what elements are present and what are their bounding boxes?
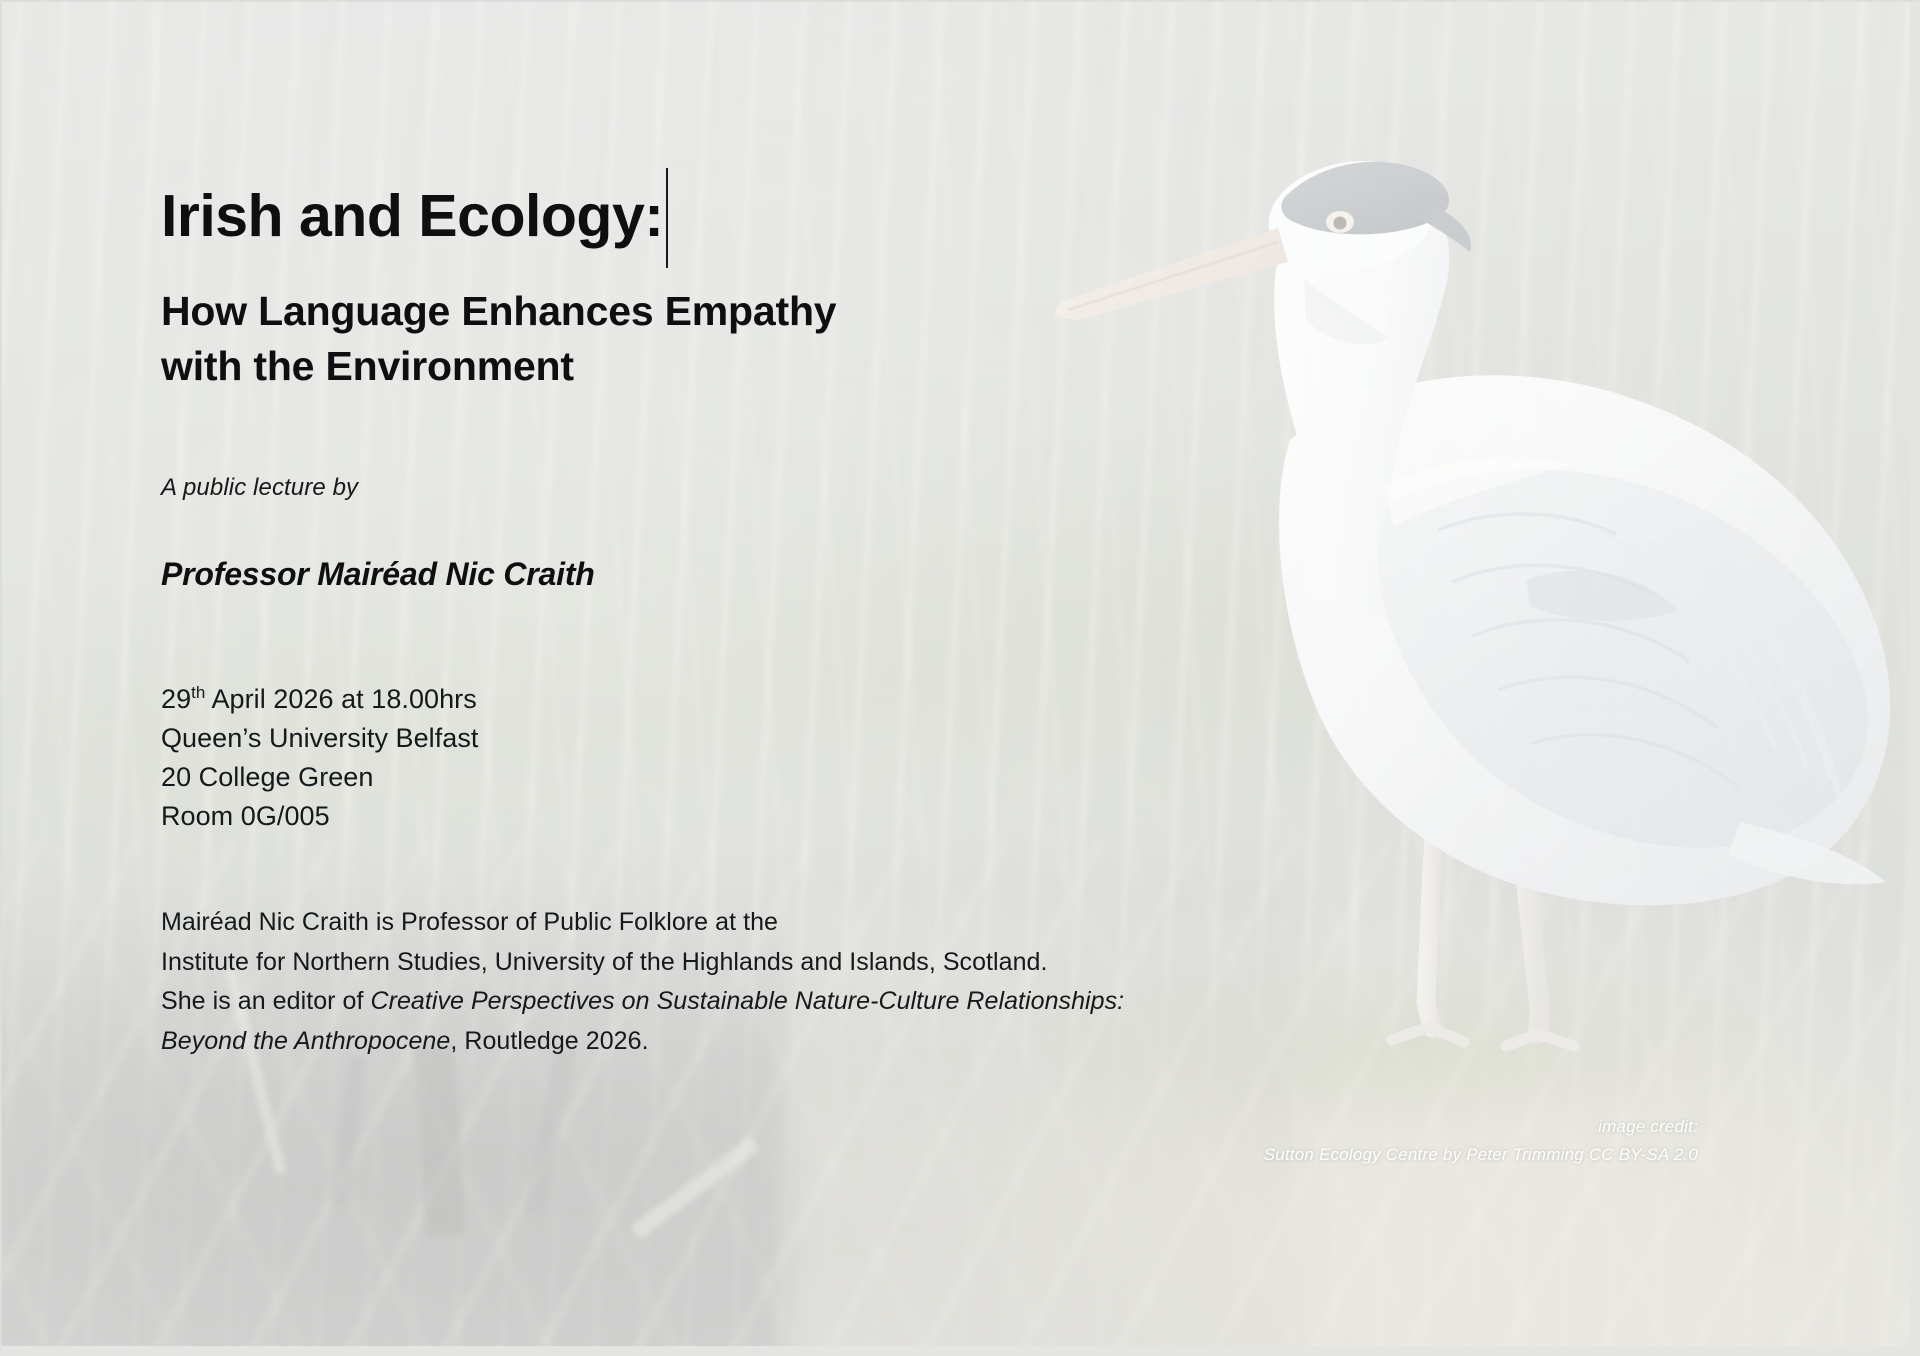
event-date-day: 29	[161, 684, 191, 714]
presenter-name: Professor Mairéad Nic Craith	[161, 556, 595, 593]
book-title-part-1: Creative Perspectives on Sustainable Nat…	[370, 987, 1124, 1015]
speaker-bio: Mairéad Nic Craith is Professor of Publi…	[161, 903, 1124, 1061]
page-title: Irish and Ecology:	[161, 168, 836, 268]
bio-line-3-prefix: She is an editor of	[161, 987, 370, 1015]
bio-publisher: , Routledge 2026.	[450, 1027, 648, 1055]
title-main-text: Irish and Ecology:	[161, 183, 663, 249]
event-room: Room 0G/005	[161, 797, 478, 836]
event-date-rest: April 2026 at 18.00hrs	[205, 684, 476, 714]
image-credit-label: image credit:	[1264, 1113, 1698, 1141]
event-details: 29th April 2026 at 18.00hrs Queen’s Univ…	[161, 680, 478, 836]
title-block: Irish and Ecology: How Language Enhances…	[161, 168, 836, 394]
book-title-part-2: Beyond the Anthropocene	[161, 1027, 450, 1055]
bio-line-3: She is an editor of Creative Perspective…	[161, 982, 1124, 1022]
subtitle-line-1: How Language Enhances Empathy	[161, 284, 836, 339]
bio-line-2: Institute for Northern Studies, Universi…	[161, 943, 1124, 983]
image-credit: image credit: Sutton Ecology Centre by P…	[1264, 1113, 1698, 1169]
bio-line-1: Mairéad Nic Craith is Professor of Publi…	[161, 903, 1124, 943]
poster-content: Irish and Ecology: How Language Enhances…	[0, 0, 1920, 1356]
lecture-kicker: A public lecture by	[161, 474, 358, 502]
event-date-ordinal: th	[191, 683, 205, 702]
lecture-poster: Irish and Ecology: How Language Enhances…	[0, 0, 1920, 1356]
event-venue: Queen’s University Belfast	[161, 719, 478, 758]
event-date: 29th April 2026 at 18.00hrs	[161, 680, 478, 719]
subtitle-line-2: with the Environment	[161, 339, 836, 394]
event-address: 20 College Green	[161, 758, 478, 797]
text-cursor-caret	[666, 168, 668, 268]
bio-line-4: Beyond the Anthropocene, Routledge 2026.	[161, 1022, 1124, 1062]
image-credit-text: Sutton Ecology Centre by Peter Trimming …	[1264, 1141, 1698, 1169]
